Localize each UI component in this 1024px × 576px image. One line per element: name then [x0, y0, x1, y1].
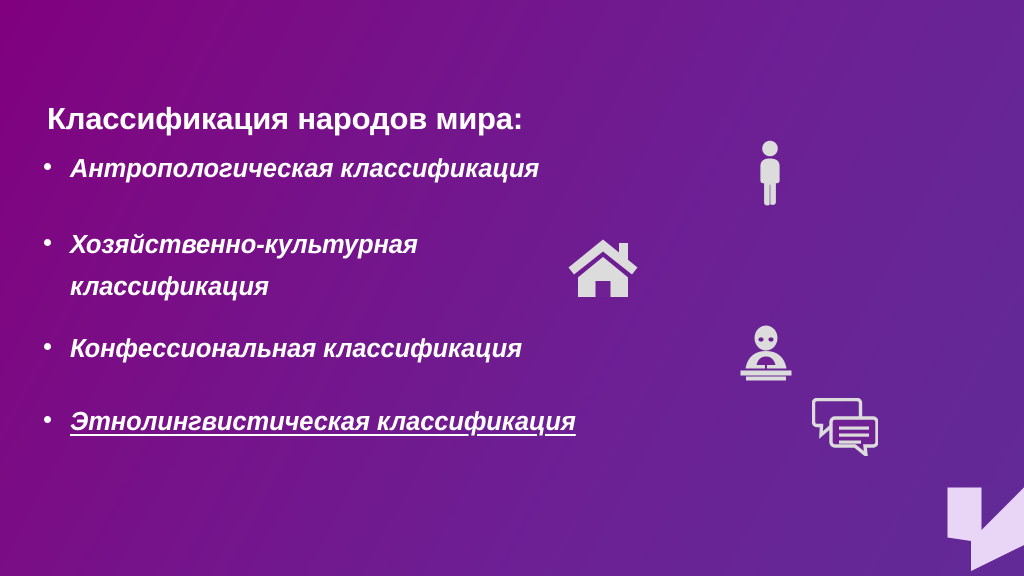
- page-title: Классификация народов мира:: [47, 101, 523, 137]
- bullet-marker-icon: [44, 239, 51, 246]
- bullet-text: Этнолингвистическая классификация: [70, 408, 576, 436]
- house-icon: [567, 237, 639, 304]
- bullet-marker-icon: [44, 163, 51, 170]
- list-item: Конфессиональная классификация: [40, 328, 840, 370]
- person-icon: [755, 140, 785, 211]
- bullet-text: Хозяйственно-культурная классификация: [70, 224, 580, 308]
- bullet-list: Антропологическая классификация Хозяйств…: [40, 148, 840, 466]
- bullet-marker-icon: [44, 416, 51, 423]
- list-item: Этнолингвистическая классификация: [40, 401, 840, 443]
- presentation-slide: Классификация народов мира: Антропологич…: [0, 0, 1024, 576]
- decorative-arrow-shape: [938, 475, 1024, 576]
- praying-person-icon: [735, 325, 797, 392]
- bullet-text: Конфессиональная классификация: [70, 335, 522, 363]
- list-item: Антропологическая классификация: [40, 148, 840, 190]
- bullet-text: Антропологическая классификация: [70, 155, 539, 183]
- list-item: Хозяйственно-культурная классификация: [40, 224, 840, 308]
- chat-bubbles-icon: [812, 398, 878, 461]
- bullet-marker-icon: [44, 343, 51, 350]
